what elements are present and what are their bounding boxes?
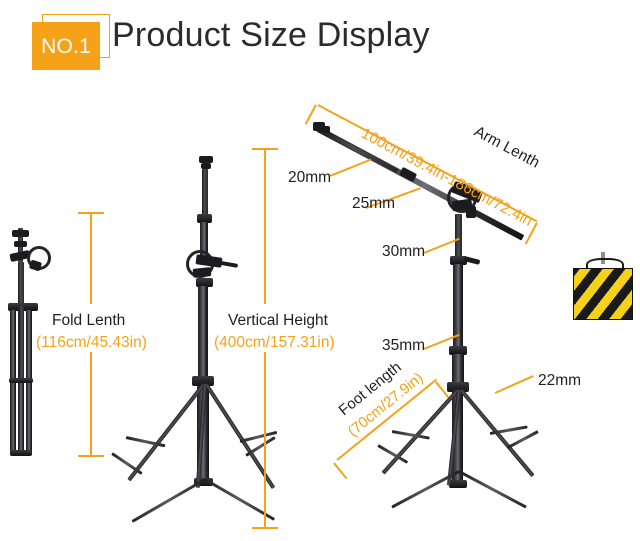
fold-dim-line-upper (90, 212, 92, 304)
folded-lower-tube-1 (10, 383, 16, 455)
boom-foot-right (507, 430, 538, 449)
folded-head-clamp-b (14, 241, 27, 247)
badge-label: NO.1 (32, 22, 100, 70)
leader-22mm (495, 375, 534, 394)
folded-foot-cap (10, 450, 32, 456)
boom-pivot-knob (466, 206, 476, 218)
vertical-height-value: (400cm/157.31in) (214, 334, 335, 352)
sandbag-body (573, 268, 633, 320)
boom-tip-collar (322, 126, 330, 133)
fold-length-label: Fold Lenth (52, 312, 125, 330)
folded-head-clamp-a (12, 230, 29, 237)
fold-length-value: (116cm/45.43in) (36, 334, 147, 352)
folded-lower-tube-3 (26, 383, 32, 455)
fold-dim-cap-bottom (78, 455, 104, 457)
boom-strut-right (490, 425, 528, 435)
folded-lower-tube-2 (18, 383, 24, 455)
vheight-dim-line-upper (264, 148, 266, 304)
folded-upper-tube (18, 262, 24, 306)
boom-brace-left (391, 470, 460, 508)
diameter-label-35mm: 35mm (382, 337, 425, 355)
vheight-dim-line-lower (264, 352, 266, 528)
boom-brace-right (458, 470, 527, 508)
extended-knuckle-clamp (193, 267, 212, 278)
extended-leg-left (127, 383, 205, 482)
diameter-label-25mm: 25mm (352, 195, 395, 213)
extended-brace-left (132, 478, 206, 523)
boom-bottom-foot (449, 480, 467, 488)
foot-dim-cap-start (333, 462, 347, 479)
diameter-label-22mm: 22mm (538, 372, 581, 390)
vheight-dim-cap-bottom (252, 527, 278, 529)
diameter-label-20mm: 20mm (288, 169, 331, 187)
page-title: Product Size Display (112, 16, 430, 55)
infographic-canvas: NO.1 Product Size Display Fold Lenth (0, 0, 640, 541)
section-number-badge: NO.1 (32, 14, 114, 70)
extended-top-spigot (199, 156, 213, 163)
leader-20mm (330, 159, 371, 177)
vertical-height-label: Vertical Height (228, 312, 328, 330)
fold-dim-line-lower (90, 352, 92, 456)
extended-tube-30mm (198, 286, 208, 386)
arm-length-label: Arm Lenth (471, 123, 543, 172)
diameter-label-30mm: 30mm (382, 243, 425, 261)
extended-tube-20mm (202, 169, 208, 217)
